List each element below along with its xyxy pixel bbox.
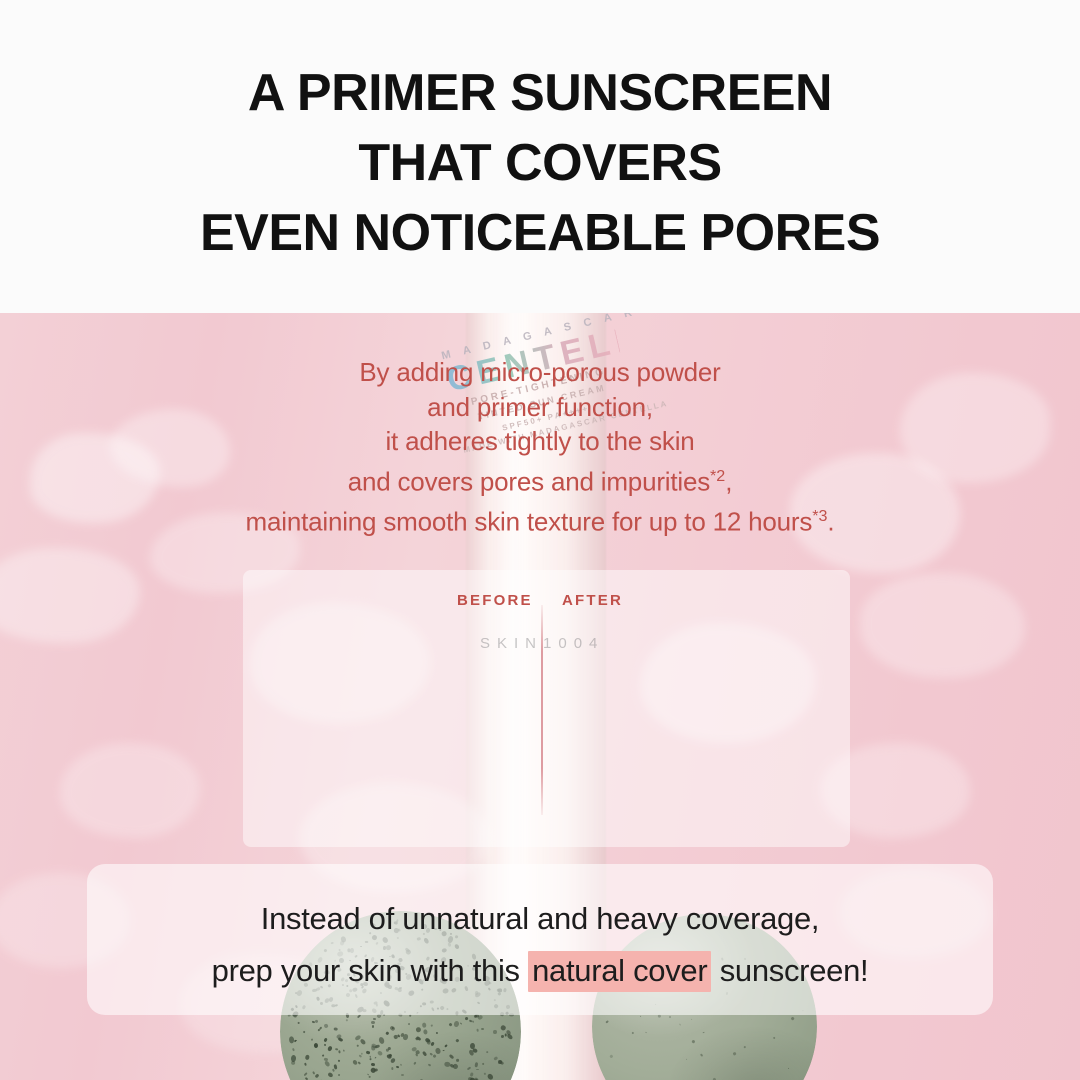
copy-line-4-tail: , [725,466,732,496]
caption-line-2-post: sunscreen! [711,953,868,988]
product-detail-page: A PRIMER SUNSCREEN THAT COVERS EVEN NOTI… [0,0,1080,1080]
copy-line-3: it adheres tightly to the skin [0,424,1080,459]
page-headline: A PRIMER SUNSCREEN THAT COVERS EVEN NOTI… [0,58,1080,268]
before-after-panel [243,570,850,847]
after-label: AFTER [562,592,623,609]
crystal-shape [0,548,140,643]
caption-line-2-pre: prep your skin with this [212,953,528,988]
headline-line-3: EVEN NOTICEABLE PORES [0,198,1080,268]
copy-line-5: maintaining smooth skin texture for up t… [0,499,1080,539]
headline-band: A PRIMER SUNSCREEN THAT COVERS EVEN NOTI… [0,0,1080,313]
crystal-shape [60,743,200,838]
body-copy: By adding micro-porous powder and primer… [0,355,1080,539]
crystal-shape [860,573,1025,678]
caption-line-2: prep your skin with this natural cover s… [87,945,993,997]
headline-line-2: THAT COVERS [0,128,1080,198]
copy-line-4: and covers pores and impurities*2, [0,459,1080,499]
headline-line-1: A PRIMER SUNSCREEN [0,58,1080,128]
copy-line-4-text: and covers pores and impurities [348,466,710,496]
caption-line-1: Instead of unnatural and heavy coverage, [87,893,993,945]
pink-photo-section: M A D A G A S C A R CENTELLA PORE-TIGHTE… [0,313,1080,1080]
caption-text: Instead of unnatural and heavy coverage,… [87,893,993,997]
copy-line-1: By adding micro-porous powder [0,355,1080,390]
copy-line-2: and primer function, [0,390,1080,425]
caption-highlight: natural cover [528,951,711,992]
footnote-marker-3: *3 [812,507,827,525]
footnote-marker-2: *2 [710,467,725,485]
before-label: BEFORE [457,592,533,609]
comparison-divider [541,605,543,815]
copy-line-5-tail: . [827,506,834,536]
copy-line-5-text: maintaining smooth skin texture for up t… [246,506,813,536]
